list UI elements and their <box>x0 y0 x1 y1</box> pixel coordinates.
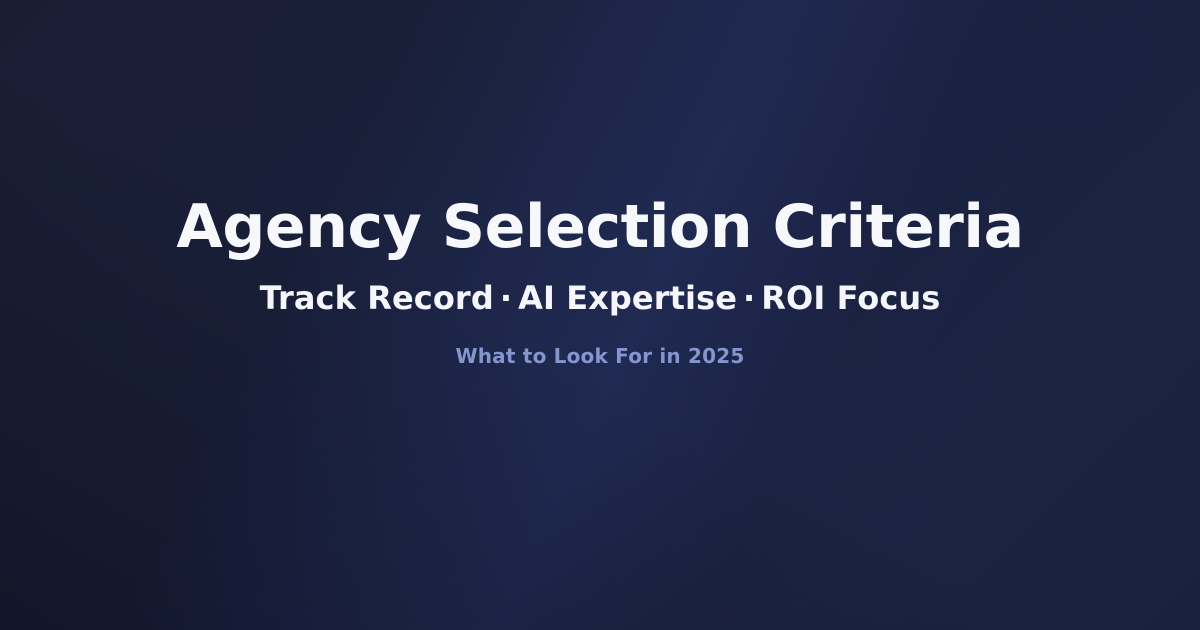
subtitle-part-track-record: Track Record <box>260 279 494 317</box>
subtitle-part-roi-focus: ROI Focus <box>761 279 940 317</box>
subtitle-part-ai-expertise: AI Expertise <box>518 279 737 317</box>
title-slide: Agency Selection Criteria Track Record·A… <box>0 0 1200 630</box>
subtitle-separator-2: · <box>737 280 761 317</box>
subtitle-separator-1: · <box>494 280 518 317</box>
slide-tagline: What to Look For in 2025 <box>455 317 744 368</box>
slide-subtitle: Track Record·AI Expertise·ROI Focus <box>260 258 941 317</box>
slide-content: Agency Selection Criteria Track Record·A… <box>0 0 1200 630</box>
slide-title: Agency Selection Criteria <box>176 0 1023 258</box>
